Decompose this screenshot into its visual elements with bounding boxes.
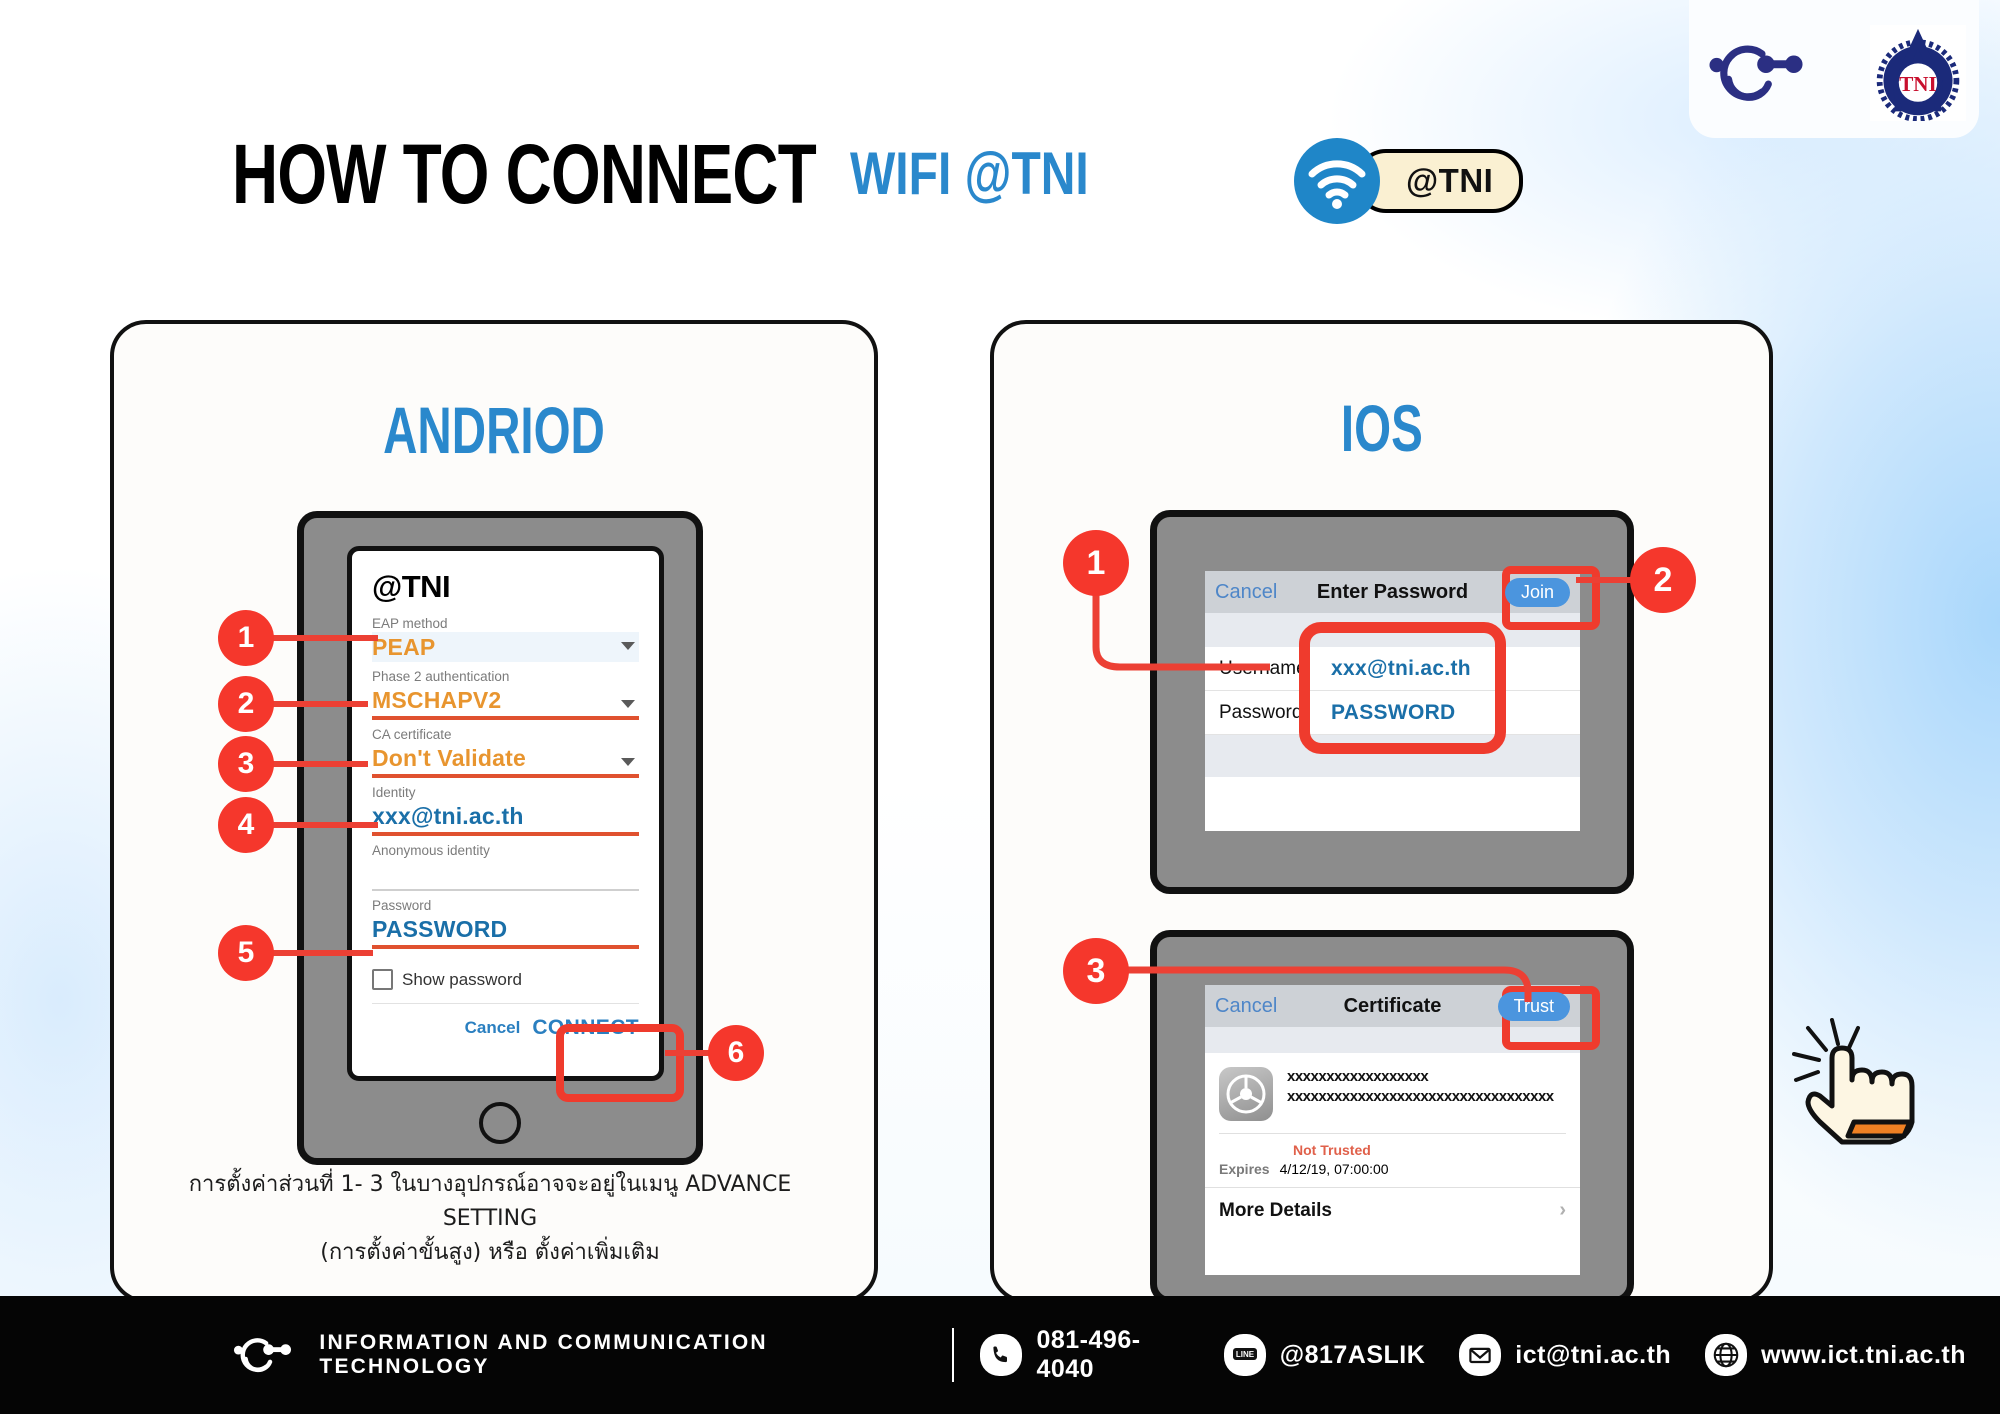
step-badge-2: 2: [218, 676, 274, 732]
ios-screen-certificate: Cancel Certificate Trust: [1205, 985, 1580, 1275]
field-underline: [372, 716, 639, 720]
certificate-name-line-1: xxxxxxxxxxxxxxxxxx: [1287, 1067, 1554, 1087]
step-connector-1: [268, 635, 378, 641]
chevron-down-icon[interactable]: [621, 642, 635, 650]
certificate-status-badge: Not Trusted: [1205, 1134, 1580, 1161]
ios-panel-title: IOS: [994, 390, 1769, 466]
footer-website[interactable]: www.ict.tni.ac.th: [1705, 1334, 1966, 1376]
field-password-value: PASSWORD: [372, 914, 639, 944]
wifi-badge: @TNI: [1294, 138, 1523, 224]
android-cancel-button[interactable]: Cancel: [465, 1018, 521, 1038]
ios-step-connector-2: [1576, 577, 1638, 583]
field-password[interactable]: Password PASSWORD: [372, 897, 639, 949]
svg-text:TNI: TNI: [1899, 72, 1937, 96]
svg-text:LINE: LINE: [1236, 1350, 1255, 1359]
field-underline: [372, 945, 639, 949]
checkbox-icon[interactable]: [372, 969, 393, 990]
certificate-expires-label: Expires: [1219, 1161, 1270, 1177]
field-underline: [372, 774, 639, 778]
wifi-ssid-label: @TNI: [1406, 162, 1493, 200]
step-connector-3: [268, 761, 368, 767]
line-icon: LINE: [1224, 1334, 1266, 1376]
android-phone-frame: @TNI EAP method PEAP Phase 2 authenticat…: [297, 511, 703, 1165]
page-title: HOW TO CONNECT WIFI @TNI: [232, 126, 1149, 222]
ios-spacer-3: [1205, 1027, 1580, 1053]
globe-icon: [1705, 1334, 1747, 1376]
field-eap-method-value: PEAP: [372, 632, 639, 662]
android-panel-title: ANDRIOD: [114, 392, 874, 468]
field-ca-certificate-value: Don't Validate: [372, 743, 639, 773]
home-button[interactable]: [479, 1102, 521, 1144]
step-badge-4: 4: [218, 797, 274, 853]
certificate-expires-value: 4/12/19, 07:00:00: [1280, 1161, 1389, 1177]
chevron-down-icon[interactable]: [621, 700, 635, 708]
android-note: การตั้งค่าส่วนที่ 1- 3 ในบางอุปกรณ์อาจจะ…: [140, 1168, 840, 1270]
step-badge-3: 3: [218, 736, 274, 792]
ios-step-connector-1: [1080, 585, 1280, 695]
step-connector-2: [268, 701, 368, 707]
show-password-label: Show password: [402, 970, 522, 990]
page-title-sub: WIFI @TNI: [850, 144, 1089, 204]
field-ca-certificate[interactable]: CA certificate Don't Validate: [372, 726, 639, 778]
chevron-right-icon: ›: [1559, 1199, 1566, 1222]
ios-step-badge-2: 2: [1630, 547, 1696, 613]
email-icon: [1459, 1334, 1501, 1376]
show-password-checkbox[interactable]: Show password: [372, 969, 639, 990]
ios-password-row[interactable]: Password PASSWORD: [1205, 691, 1580, 735]
field-underline: [372, 889, 639, 891]
footer-email-address: ict@tni.ac.th: [1515, 1341, 1671, 1370]
footer-org-name: INFORMATION AND COMMUNICATION TECHNOLOGY: [319, 1331, 921, 1379]
wifi-icon: [1294, 138, 1380, 224]
step-connector-4: [268, 822, 378, 828]
ios-step-connector-3: [1120, 940, 1550, 1020]
field-identity[interactable]: Identity xxx@tni.ac.th: [372, 784, 639, 836]
ict-logo: [1706, 38, 1810, 108]
step-connector-5: [268, 950, 373, 956]
step-badge-1: 1: [218, 610, 274, 666]
more-details-row[interactable]: More Details ›: [1205, 1187, 1580, 1233]
page-title-main: HOW TO CONNECT: [232, 132, 816, 216]
field-anonymous-identity[interactable]: Anonymous identity: [372, 842, 639, 891]
ios-password-label: Password: [1219, 702, 1331, 724]
ios-spacer-2: [1205, 735, 1580, 777]
footer-website-url: www.ict.tni.ac.th: [1761, 1341, 1966, 1370]
footer-phone[interactable]: 081-496-4040: [980, 1326, 1189, 1384]
ios-step-badge-1: 1: [1063, 530, 1129, 596]
ios-phone-frame-1: Cancel Enter Password Join Username xxx@…: [1150, 510, 1634, 894]
ios-step-badge-3: 3: [1063, 938, 1129, 1004]
android-phone-screen: @TNI EAP method PEAP Phase 2 authenticat…: [347, 546, 664, 1081]
ios-join-button[interactable]: Join: [1505, 578, 1570, 607]
field-phase2-auth[interactable]: Phase 2 authentication MSCHAPV2: [372, 668, 639, 720]
wifi-ssid-pill: @TNI: [1356, 149, 1523, 213]
field-phase2-auth-value: MSCHAPV2: [372, 685, 639, 715]
footer-ict-logo: [232, 1329, 295, 1381]
certificate-gear-icon: [1219, 1067, 1273, 1121]
android-note-line-1: การตั้งค่าส่วนที่ 1- 3 ในบางอุปกรณ์อาจจะ…: [140, 1168, 840, 1236]
footer-bar: INFORMATION AND COMMUNICATION TECHNOLOGY…: [0, 1296, 2000, 1414]
field-underline: [372, 832, 639, 836]
footer-line[interactable]: LINE @817ASLIK: [1224, 1334, 1426, 1376]
ios-username-value: xxx@tni.ac.th: [1331, 657, 1471, 681]
ios-password-value: PASSWORD: [1331, 701, 1456, 725]
step-badge-5: 5: [218, 925, 274, 981]
footer-divider: [952, 1328, 955, 1382]
footer-phone-number: 081-496-4040: [1036, 1326, 1189, 1384]
tni-logo: TNI: [1870, 25, 1966, 121]
phone-icon: [980, 1334, 1022, 1376]
certificate-name-line-2: xxxxxxxxxxxxxxxxxxxxxxxxxxxxxxxxxx: [1287, 1087, 1554, 1107]
footer-email[interactable]: ict@tni.ac.th: [1459, 1334, 1671, 1376]
field-identity-value: xxx@tni.ac.th: [372, 801, 639, 831]
step-badge-6: 6: [708, 1025, 764, 1081]
android-ssid: @TNI: [372, 569, 639, 605]
footer-line-id: @817ASLIK: [1280, 1341, 1426, 1370]
field-eap-method[interactable]: EAP method PEAP: [372, 615, 639, 662]
android-note-line-2: (การตั้งค่าขั้นสูง) หรือ ตั้งค่าเพิ่มเติ…: [140, 1236, 840, 1270]
android-connect-button[interactable]: CONNECT: [532, 1016, 639, 1040]
more-details-label: More Details: [1219, 1200, 1332, 1222]
chevron-down-icon[interactable]: [621, 758, 635, 766]
click-hand-cursor-icon: [1786, 1010, 1936, 1150]
